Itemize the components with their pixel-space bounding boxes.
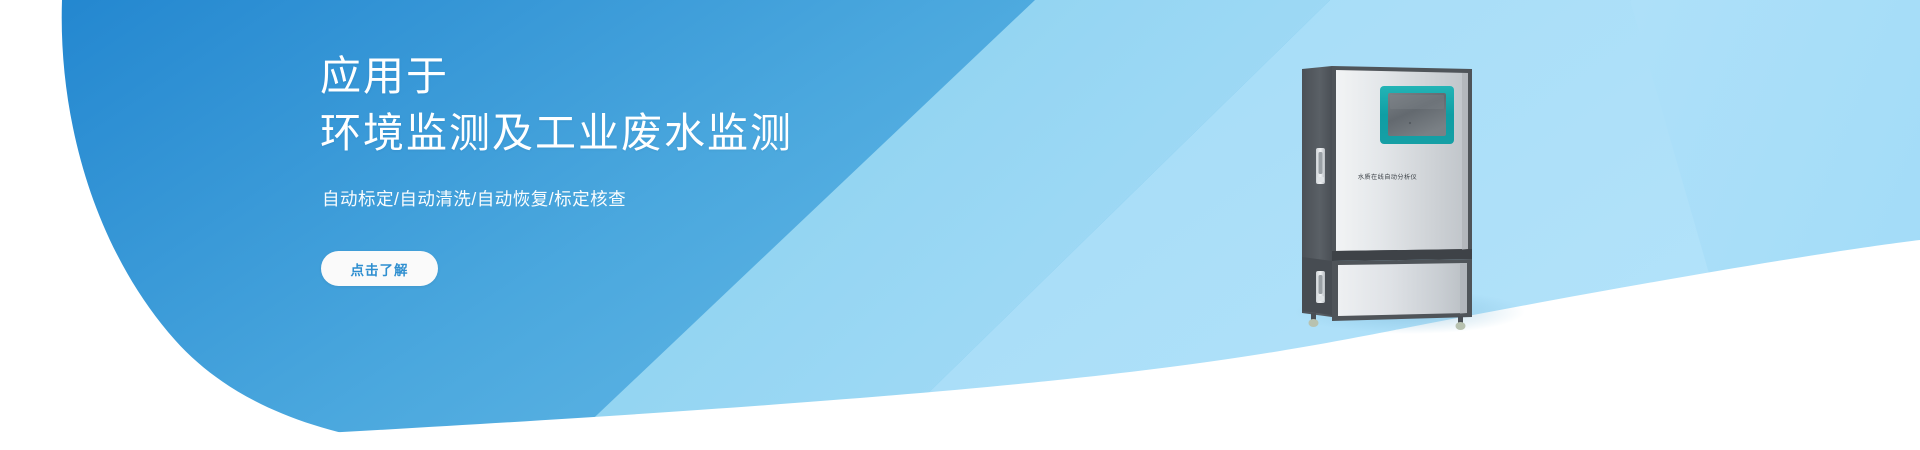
caster-wheel-icon-right [1456,322,1466,330]
lower-door-edge-shade [1460,263,1467,314]
lower-door-handle-grip [1319,275,1323,294]
caster-wheel-icon [1309,319,1319,327]
door-handle-grip [1319,152,1323,174]
lower-door-face [1338,263,1467,316]
upper-door-edge-shade [1462,73,1468,250]
display-glare [1390,95,1444,109]
banner-subtitle: 自动标定/自动清洗/自动恢复/标定核查 [322,186,626,212]
headline-line-1: 应用于 [320,48,793,105]
product-image-water-analyzer: 水质在线自动分析仪 [1290,55,1490,330]
learn-more-button[interactable]: 点击了解 [321,251,438,286]
hero-banner: 应用于 环境监测及工业废水监测 自动标定/自动清洗/自动恢复/标定核查 点击了解 [0,0,1920,450]
door-lock-plate [1317,177,1324,182]
cabinet-divider [1332,249,1472,261]
headline-line-2: 环境监测及工业废水监测 [320,105,793,162]
analyzer-cabinet-illustration [1290,55,1490,330]
display-pixel-dot [1409,122,1411,124]
banner-content: 应用于 环境监测及工业废水监测 自动标定/自动清洗/自动恢复/标定核查 点击了解 [320,0,1080,450]
page-title: 应用于 环境监测及工业废水监测 [320,48,793,162]
lower-door-lock-plate [1317,296,1324,301]
